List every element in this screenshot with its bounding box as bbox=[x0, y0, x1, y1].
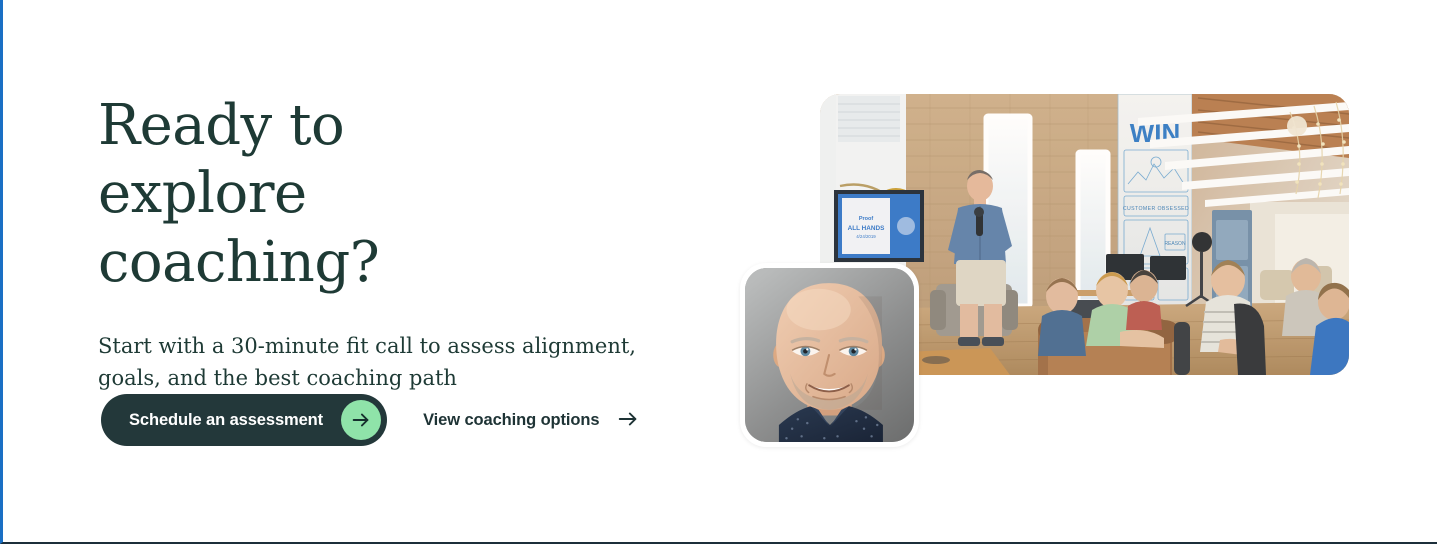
arrow-right-icon bbox=[341, 400, 381, 440]
arrow-right-icon bbox=[615, 408, 641, 433]
view-coaching-options-label: View coaching options bbox=[423, 411, 599, 430]
coach-headshot-card bbox=[740, 263, 919, 447]
view-coaching-options-link[interactable]: View coaching options bbox=[423, 408, 641, 433]
cta-subheading: Start with a 30-minute fit call to asses… bbox=[98, 331, 658, 395]
cta-actions: Schedule an assessment View coaching opt… bbox=[101, 394, 641, 446]
schedule-assessment-label: Schedule an assessment bbox=[129, 411, 323, 430]
cta-text-block: Ready to explore coaching? Start with a … bbox=[98, 92, 698, 395]
avatar bbox=[745, 268, 914, 442]
cta-section: Ready to explore coaching? Start with a … bbox=[0, 0, 1437, 544]
coach-portrait-illustration bbox=[745, 268, 914, 442]
schedule-assessment-button[interactable]: Schedule an assessment bbox=[101, 394, 387, 446]
page-title: Ready to explore coaching? bbox=[98, 92, 568, 297]
media-group: WIN CUSTOMER OBSESSED REASON bbox=[740, 94, 1350, 454]
